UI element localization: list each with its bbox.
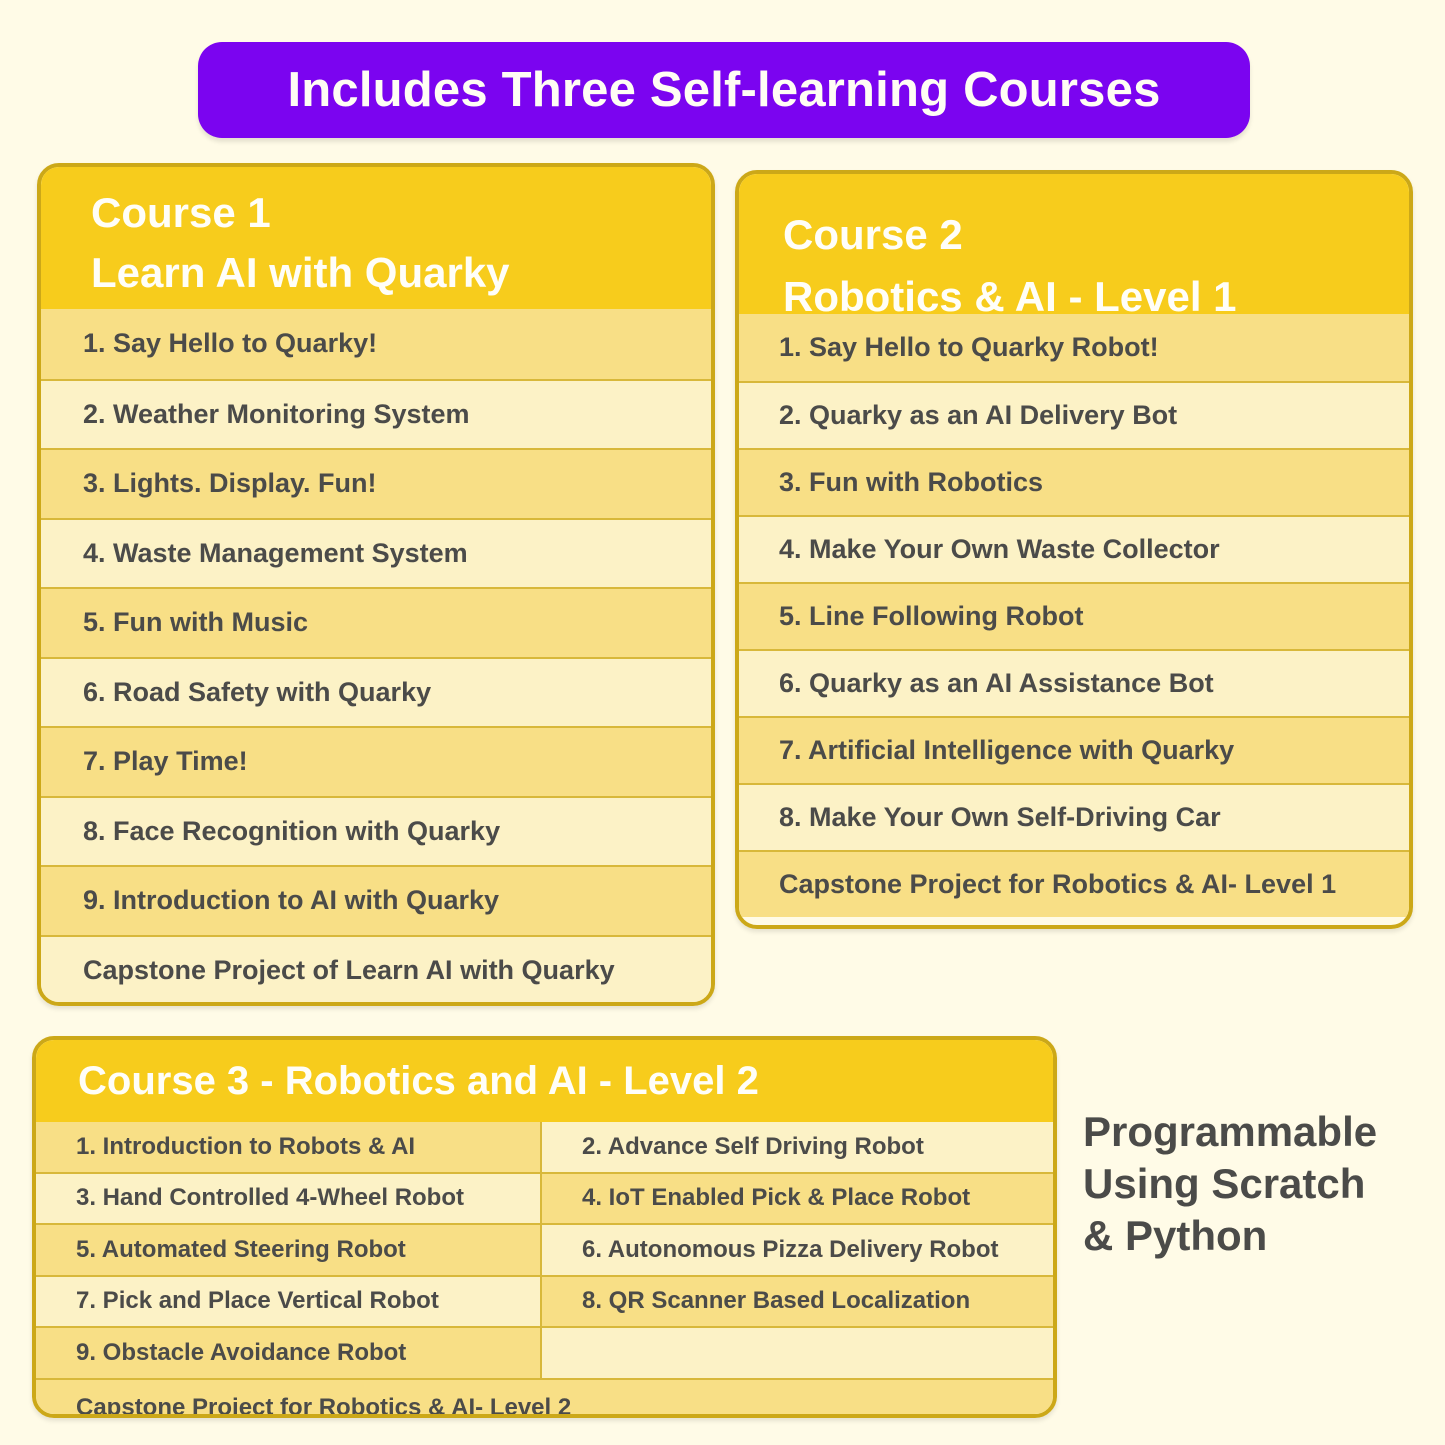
- banner: Includes Three Self-learning Courses: [198, 42, 1250, 138]
- table-cell: 3. Hand Controlled 4-Wheel Robot: [36, 1174, 542, 1224]
- programmable-note: Programmable Using Scratch & Python: [1083, 1106, 1433, 1262]
- list-item: 2. Quarky as an AI Delivery Bot: [739, 381, 1409, 448]
- course-1-header-line2: Learn AI with Quarky: [91, 243, 711, 303]
- table-cell-empty: [542, 1328, 1053, 1378]
- table-cell: 5. Automated Steering Robot: [36, 1225, 542, 1275]
- table-row: 7. Pick and Place Vertical Robot 8. QR S…: [36, 1275, 1053, 1327]
- list-item-capstone: Capstone Project for Robotics & AI- Leve…: [739, 850, 1409, 917]
- table-cell: 7. Pick and Place Vertical Robot: [36, 1277, 542, 1327]
- programmable-note-line3: & Python: [1083, 1210, 1433, 1262]
- table-cell: 9. Obstacle Avoidance Robot: [36, 1328, 542, 1378]
- list-item: 8. Face Recognition with Quarky: [41, 796, 711, 866]
- list-item: 1. Say Hello to Quarky!: [41, 309, 711, 379]
- course-3-card: Course 3 - Robotics and AI - Level 2 1. …: [32, 1036, 1057, 1418]
- course-3-header: Course 3 - Robotics and AI - Level 2: [36, 1040, 1053, 1122]
- banner-title: Includes Three Self-learning Courses: [287, 62, 1160, 118]
- list-item: 7. Play Time!: [41, 726, 711, 796]
- list-item: 4. Make Your Own Waste Collector: [739, 515, 1409, 582]
- table-row: 5. Automated Steering Robot 6. Autonomou…: [36, 1223, 1053, 1275]
- table-cell: 1. Introduction to Robots & AI: [36, 1122, 542, 1172]
- course-1-header-line1: Course 1: [91, 183, 711, 243]
- list-item: 7. Artificial Intelligence with Quarky: [739, 716, 1409, 783]
- course-2-card: Course 2 Robotics & AI - Level 1 1. Say …: [735, 170, 1413, 929]
- list-item: 9. Introduction to AI with Quarky: [41, 865, 711, 935]
- programmable-note-line2: Using Scratch: [1083, 1158, 1433, 1210]
- table-row: 9. Obstacle Avoidance Robot: [36, 1326, 1053, 1378]
- list-item-capstone: Capstone Project of Learn AI with Quarky: [41, 935, 711, 1005]
- course-2-header-line1: Course 2: [783, 204, 1409, 266]
- course-1-header: Course 1 Learn AI with Quarky: [41, 167, 711, 309]
- table-cell: 6. Autonomous Pizza Delivery Robot: [542, 1225, 1053, 1275]
- table-cell: 4. IoT Enabled Pick & Place Robot: [542, 1174, 1053, 1224]
- course-2-header: Course 2 Robotics & AI - Level 1: [739, 174, 1409, 314]
- list-item: 5. Fun with Music: [41, 587, 711, 657]
- course-2-lesson-list: 1. Say Hello to Quarky Robot! 2. Quarky …: [739, 314, 1409, 917]
- list-item: 6. Road Safety with Quarky: [41, 657, 711, 727]
- table-cell: 8. QR Scanner Based Localization: [542, 1277, 1053, 1327]
- list-item: 6. Quarky as an AI Assistance Bot: [739, 649, 1409, 716]
- list-item-capstone: Capstone Project for Robotics & AI- Leve…: [36, 1378, 1053, 1419]
- list-item: 3. Lights. Display. Fun!: [41, 448, 711, 518]
- table-cell: 2. Advance Self Driving Robot: [542, 1122, 1053, 1172]
- table-row: 3. Hand Controlled 4-Wheel Robot 4. IoT …: [36, 1172, 1053, 1224]
- list-item: 4. Waste Management System: [41, 518, 711, 588]
- course-1-card: Course 1 Learn AI with Quarky 1. Say Hel…: [37, 163, 715, 1006]
- course-1-lesson-list: 1. Say Hello to Quarky! 2. Weather Monit…: [41, 309, 711, 1004]
- list-item: 2. Weather Monitoring System: [41, 379, 711, 449]
- course-3-lesson-grid: 1. Introduction to Robots & AI 2. Advanc…: [36, 1122, 1053, 1418]
- list-item: 3. Fun with Robotics: [739, 448, 1409, 515]
- table-row: 1. Introduction to Robots & AI 2. Advanc…: [36, 1122, 1053, 1172]
- list-item: 5. Line Following Robot: [739, 582, 1409, 649]
- programmable-note-line1: Programmable: [1083, 1106, 1433, 1158]
- course-3-header-title: Course 3 - Robotics and AI - Level 2: [78, 1052, 1053, 1110]
- list-item: 8. Make Your Own Self-Driving Car: [739, 783, 1409, 850]
